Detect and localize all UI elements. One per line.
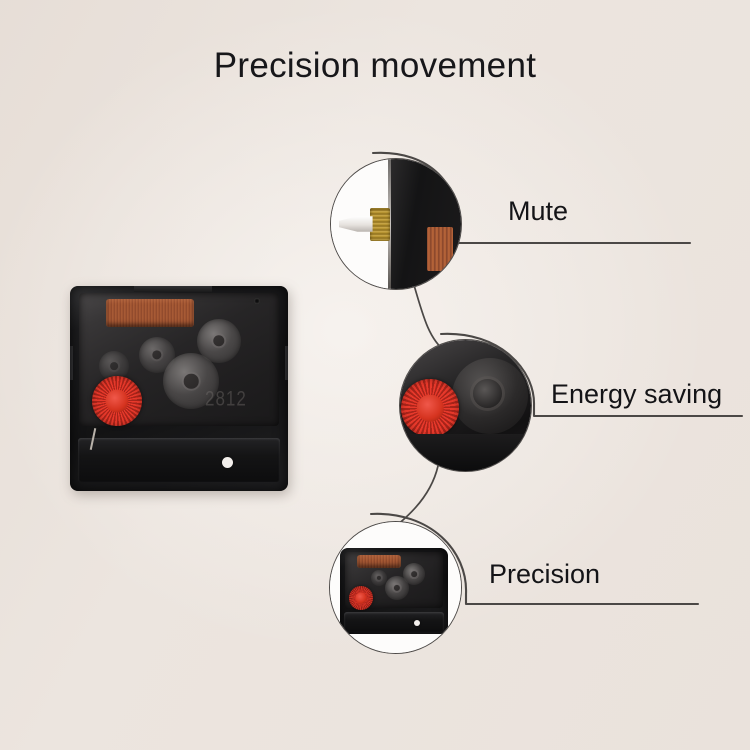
precision-detail-red-wheel	[349, 586, 373, 610]
infographic-canvas: Precision movement 2812	[0, 0, 750, 750]
precision-detail-hanging-hole	[414, 620, 420, 626]
precision-detail-gear-center	[385, 576, 409, 600]
energy-detail-red-wheel	[401, 379, 459, 437]
product-hero-image: 2812	[70, 286, 288, 491]
callout-label-energy-saving: Energy saving	[551, 379, 722, 410]
page-title: Precision movement	[0, 46, 750, 86]
screw-hole-top-right	[254, 298, 260, 304]
copper-coil	[106, 299, 194, 327]
precision-detail-movement	[340, 548, 448, 634]
movement-base	[78, 438, 280, 482]
molding-marks: 2812	[205, 387, 247, 412]
callout-circle-precision	[329, 521, 462, 654]
red-time-setting-wheel	[92, 376, 142, 426]
hanging-hole	[222, 457, 233, 468]
side-lug-right	[285, 346, 288, 380]
precision-detail-coil	[357, 555, 401, 568]
energy-detail-base-strip	[400, 434, 531, 471]
callout-circle-mute	[330, 158, 462, 290]
precision-detail-gear-small	[371, 570, 387, 586]
mute-detail-coil	[427, 227, 453, 271]
callout-circle-energy-saving	[399, 339, 532, 472]
callout-label-mute: Mute	[508, 196, 568, 227]
top-mounting-tab	[134, 286, 212, 292]
precision-detail-base	[344, 612, 444, 632]
side-lug-left	[70, 346, 73, 380]
mute-detail-brass-thread	[370, 208, 390, 241]
callout-label-precision: Precision	[489, 559, 600, 590]
